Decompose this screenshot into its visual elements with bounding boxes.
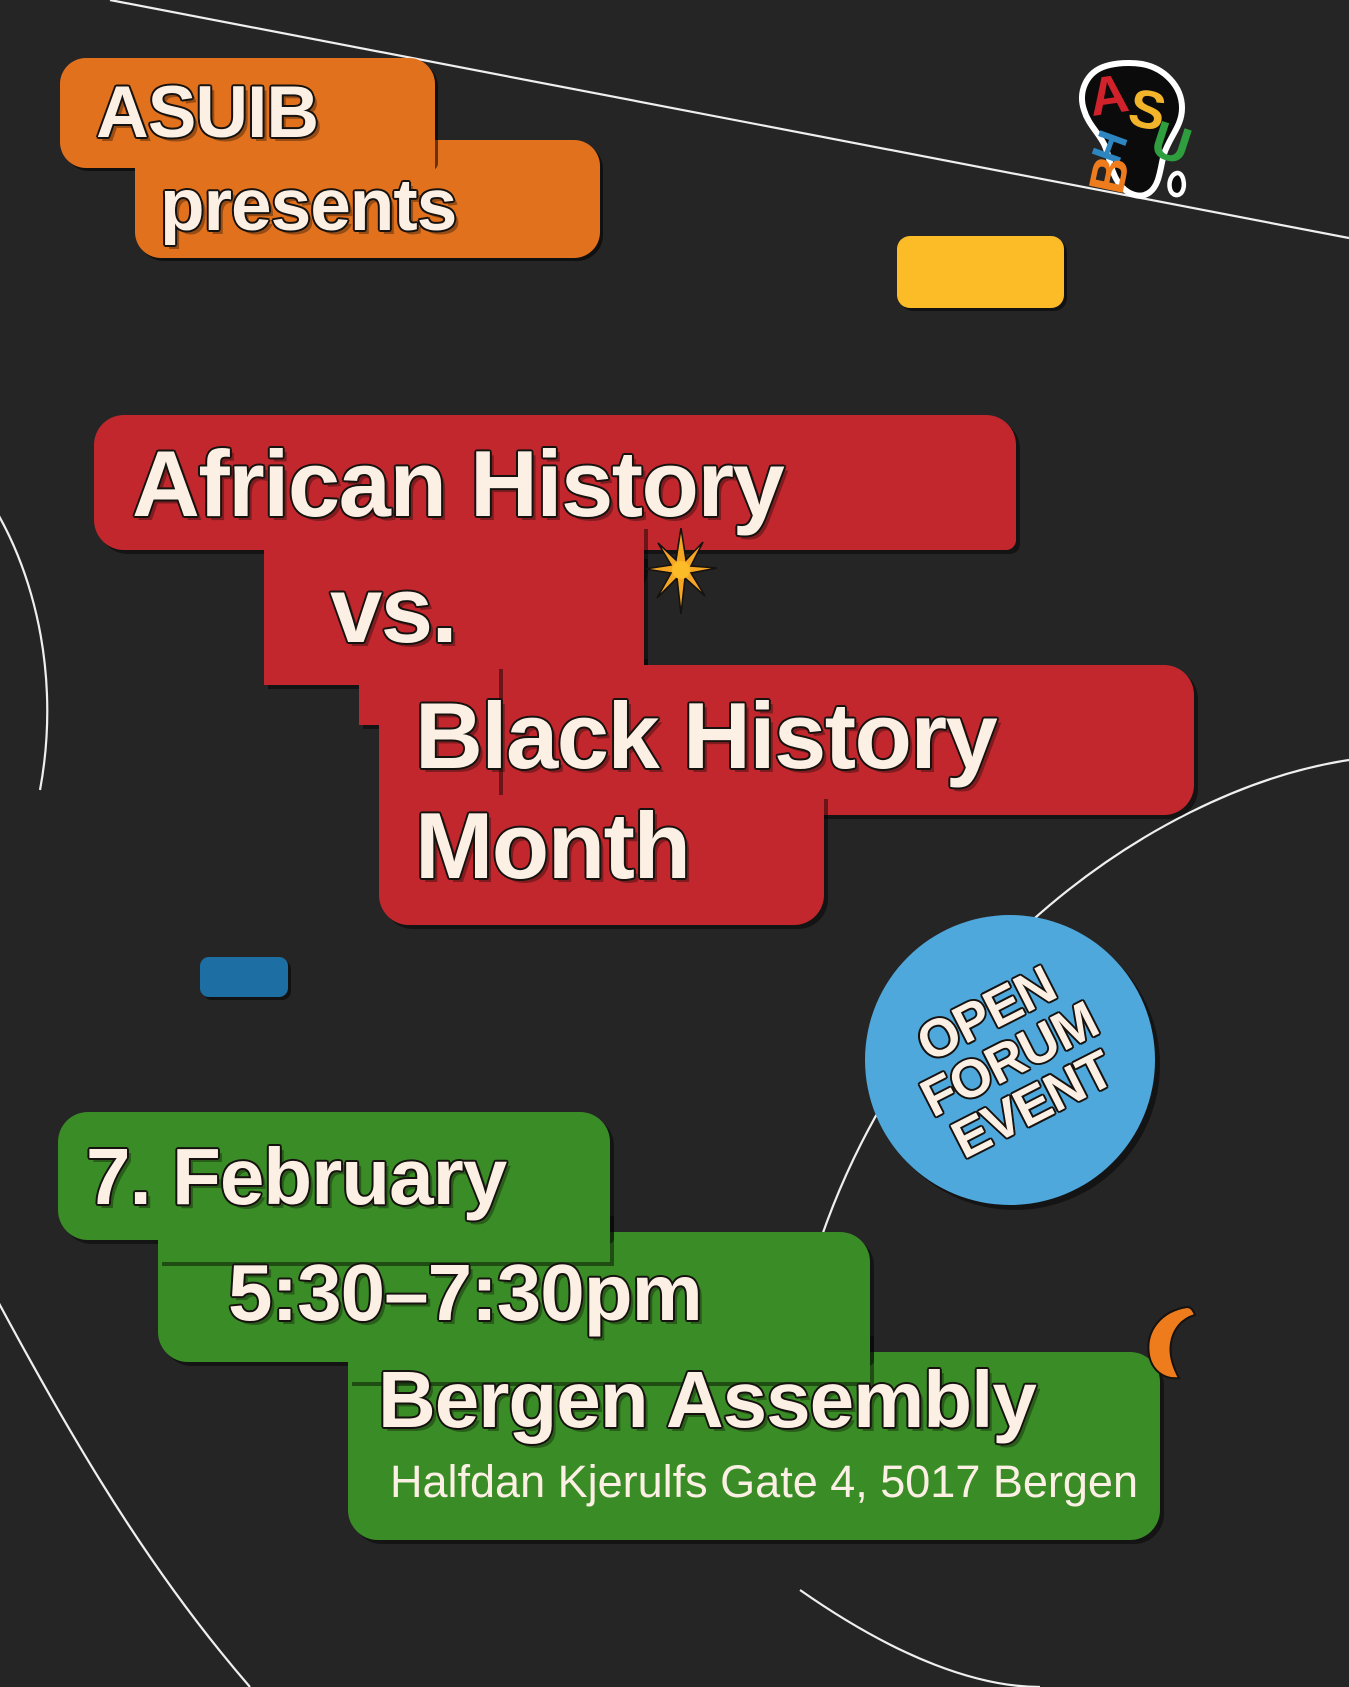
event-time: 5:30–7:30pm bbox=[228, 1238, 868, 1348]
event-address: Halfdan Kjerulfs Gate 4, 5017 Bergen bbox=[390, 1452, 1180, 1512]
title-line-2: vs. bbox=[330, 560, 630, 660]
poster-canvas: ASUIB presents A S U H B African History… bbox=[0, 0, 1349, 1687]
blue-decorative-rect bbox=[200, 957, 288, 997]
title-line-3: Black History bbox=[415, 680, 1215, 792]
svg-text:A: A bbox=[1085, 63, 1132, 128]
asuib-africa-logo-icon: A S U H B bbox=[1060, 58, 1195, 208]
title-line-4: Month bbox=[415, 790, 915, 902]
orange-crescent-icon bbox=[1143, 1305, 1207, 1380]
title-line-1: African History bbox=[132, 428, 1032, 540]
presents-word: presents bbox=[160, 160, 580, 250]
sparkle-star-icon bbox=[645, 528, 717, 614]
event-venue: Bergen Assembly bbox=[378, 1350, 1178, 1450]
organisation-name: ASUIB bbox=[96, 66, 436, 158]
event-date: 7. February bbox=[86, 1122, 606, 1232]
yellow-decorative-rect bbox=[897, 236, 1064, 308]
